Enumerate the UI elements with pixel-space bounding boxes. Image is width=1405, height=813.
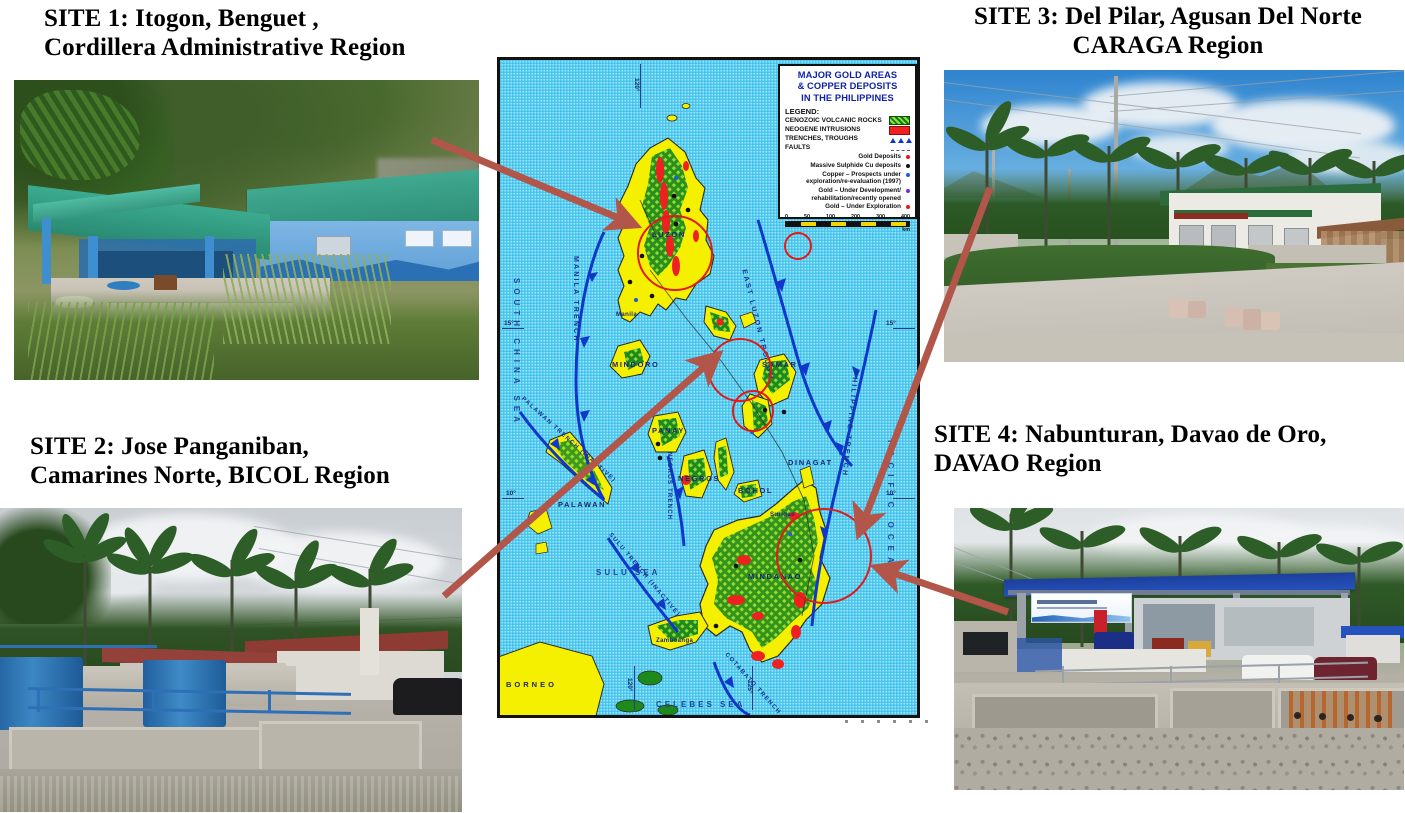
legend-row-neogene-label: NEOGENE INTRUSIONS — [785, 126, 886, 134]
legend-row-neogene: NEOGENE INTRUSIONS — [785, 126, 910, 135]
graticule-parallel — [893, 328, 915, 329]
map-label-surigao: Surigao — [770, 512, 795, 518]
legend-swatch-trench-ticks — [891, 136, 910, 143]
graticule-parallel — [502, 498, 524, 499]
graticule-label-15n-east: 15° — [886, 320, 896, 327]
legend-title-line3: IN THE PHILIPPINES — [785, 93, 910, 104]
settling-basin — [259, 721, 422, 776]
map-label-manila: Manila — [616, 312, 637, 318]
chimney-stack — [360, 608, 378, 675]
graticule-meridian — [634, 666, 635, 710]
blue-tank — [0, 657, 83, 730]
legend-point-gold-deposits: Gold Deposits — [785, 153, 910, 161]
site-1-caption-line2: Cordillera Administrative Region — [44, 33, 474, 62]
legend-dot-black — [906, 164, 910, 168]
legend-point-massive-sulphide-label: Massive Sulphide Cu deposits — [810, 162, 901, 170]
sack — [1188, 301, 1206, 319]
map-label-pacific-ocean: PACIFIC OCEAN — [886, 440, 895, 581]
map-label-palawan: PALAWAN — [558, 500, 606, 509]
graticule-label-120e-north: 120° — [633, 78, 640, 91]
legend-swatch-fault-line — [891, 146, 910, 151]
legend-point-gold-development: Gold – Under Development/ rehabilitation… — [785, 187, 910, 202]
scale-tick-100: 100 — [826, 214, 835, 220]
graticule-label-10n-west: 10° — [506, 490, 516, 497]
legend-title-line2: & COPPER DEPOSITS — [785, 81, 910, 92]
site-1-caption-line1: SITE 1: Itogon, Benguet , — [44, 4, 474, 33]
site-4-caption-line2: DAVAO Region — [934, 449, 1404, 478]
sack — [1225, 307, 1243, 327]
sack — [1261, 312, 1279, 330]
site-4-caption: SITE 4: Nabunturan, Davao de Oro, DAVAO … — [934, 420, 1404, 478]
map-label-bohol: BOHOL — [738, 486, 773, 495]
legend-point-massive-sulphide: Massive Sulphide Cu deposits — [785, 162, 910, 170]
map-label-zamboanga: Zamboanga — [656, 638, 693, 644]
map-footer-marks — [845, 720, 928, 723]
legend-row-cenozoic: CENOZOIC VOLCANIC ROCKS — [785, 116, 910, 125]
parked-vehicle — [393, 678, 462, 714]
site-4-caption-line1: SITE 4: Nabunturan, Davao de Oro, — [934, 420, 1404, 449]
graticule-label-120e-south: 120° — [626, 678, 633, 691]
map-label-negros: NEGROS — [678, 474, 720, 483]
legend-dot-red-2 — [906, 205, 910, 209]
site-3-map-circle — [732, 390, 774, 432]
scale-unit-label: km — [785, 227, 910, 233]
legend-title-line1: MAJOR GOLD AREAS — [785, 70, 910, 81]
legend-heading: LEGEND: — [785, 107, 910, 116]
legend-point-copper-prospects: Copper – Prospects under exploration/re-… — [785, 171, 910, 186]
event-banner — [1031, 593, 1132, 623]
map-label-sulu-sea: SULU SEA — [596, 568, 660, 577]
legend-row-cenozoic-label: CENOZOIC VOLCANIC ROCKS — [785, 117, 886, 125]
map-label-celebes-sea: CELEBES SEA — [656, 700, 745, 709]
legend-row-faults: FAULTS — [785, 144, 910, 152]
legend-point-gold-development-label: Gold – Under Development/ rehabilitation… — [785, 187, 901, 202]
site-3-caption-line2: CARAGA Region — [932, 31, 1404, 60]
map-label-borneo: BORNEO — [506, 680, 557, 689]
map-label-dinagat: DINAGAT — [788, 458, 833, 467]
sack — [1243, 309, 1261, 329]
legend-point-copper-prospects-label: Copper – Prospects under exploration/re-… — [785, 171, 901, 186]
philippines-map: LUZON MINDORO PALAWAN PANAY NEGROS BOHOL… — [497, 57, 920, 718]
sack — [1169, 298, 1187, 318]
legend-point-gold-deposits-label: Gold Deposits — [858, 153, 901, 161]
legend-swatch-green-hatch — [889, 116, 910, 125]
site-2-caption: SITE 2: Jose Panganiban, Camarines Norte… — [30, 432, 460, 490]
site-1-caption: SITE 1: Itogon, Benguet , Cordillera Adm… — [44, 4, 474, 62]
site-2-caption-line1: SITE 2: Jose Panganiban, — [30, 432, 460, 461]
legend-row-trenches-label: TRENCHES, TROUGHS — [785, 135, 888, 143]
site-3-caption-line1: SITE 3: Del Pilar, Agusan Del Norte — [932, 2, 1404, 31]
legend-point-gold-exploration: Gold – Under Exploration — [785, 203, 910, 211]
unlabeled-map-circle — [784, 232, 812, 260]
site-2-photo — [0, 508, 462, 812]
map-label-south-china-sea: SOUTH CHINA SEA — [512, 278, 521, 427]
graticule-parallel — [893, 498, 915, 499]
scale-tick-300: 300 — [876, 214, 885, 220]
site-1-photo — [14, 80, 479, 380]
graticule-label-10n-east: 10° — [886, 490, 896, 497]
scale-tick-0: 0 — [785, 214, 788, 220]
graticule-label-125e-south: 125° — [746, 680, 753, 693]
site-4-map-circle — [776, 508, 872, 604]
scale-tick-200: 200 — [851, 214, 860, 220]
map-label-panay: PANAY — [652, 426, 685, 435]
legend-swatch-red — [889, 126, 910, 135]
site-1-map-circle — [637, 215, 713, 291]
map-legend: MAJOR GOLD AREAS & COPPER DEPOSITS IN TH… — [778, 64, 917, 219]
site-4-photo — [954, 508, 1404, 790]
legend-dot-purple — [906, 189, 910, 193]
scale-tick-400: 400 — [901, 214, 910, 220]
map-label-mindoro: MINDORO — [612, 360, 659, 369]
site-3-caption: SITE 3: Del Pilar, Agusan Del Norte CARA… — [932, 2, 1404, 60]
legend-row-faults-label: FAULTS — [785, 144, 888, 152]
figure-stage: SITE 1: Itogon, Benguet , Cordillera Adm… — [0, 0, 1405, 813]
legend-dot-blue — [906, 173, 910, 177]
graticule-label-15n-west: 15° — [504, 320, 514, 327]
scale-tick-50: 50 — [804, 214, 810, 220]
legend-dot-red — [906, 155, 910, 159]
map-label-negros-trench: NEGROS TRENCH — [666, 452, 672, 520]
legend-row-trenches: TRENCHES, TROUGHS — [785, 135, 910, 143]
site-3-photo — [944, 70, 1404, 362]
legend-scale-bar: 0 50 100 200 300 400 km — [785, 214, 910, 230]
site-2-caption-line2: Camarines Norte, BICOL Region — [30, 461, 460, 490]
graticule-meridian — [640, 64, 641, 108]
legend-point-gold-exploration-label: Gold – Under Exploration — [825, 203, 901, 211]
map-label-manila-trench: MANILA TRENCH — [572, 256, 579, 343]
